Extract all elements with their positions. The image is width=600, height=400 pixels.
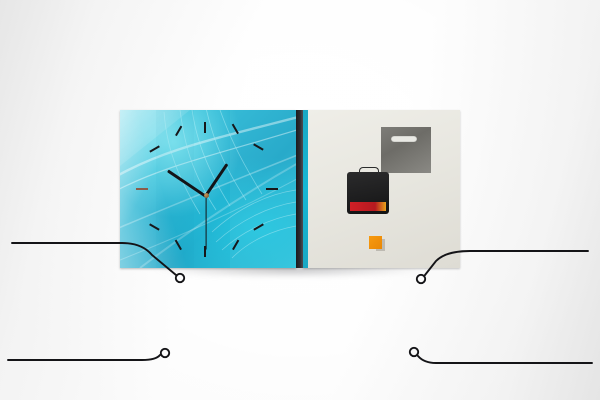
hanger-slot (391, 136, 417, 142)
infographic-canvas: VIDRIO TEMPLADO Resistencia a grietas y … (0, 0, 600, 400)
clock-tick (204, 122, 206, 133)
connector-lines (0, 165, 600, 400)
